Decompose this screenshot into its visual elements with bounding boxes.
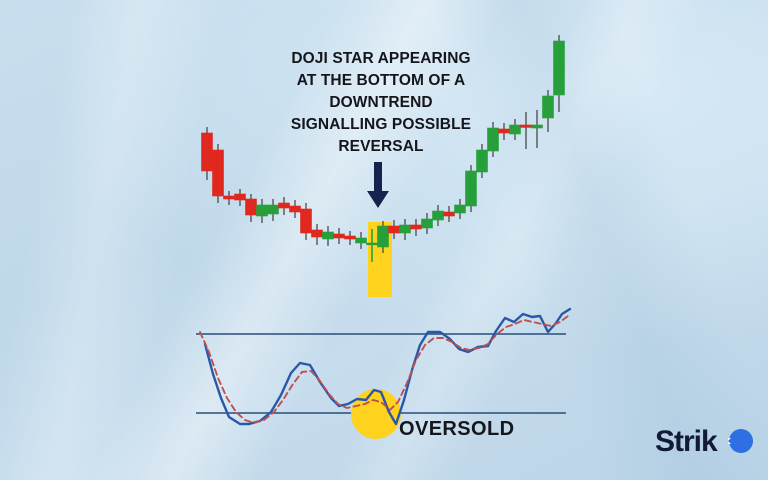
oversold-circle xyxy=(351,389,401,439)
oversold-label: OVERSOLD xyxy=(399,418,514,441)
logo-mark: Strik xyxy=(655,424,759,458)
rsi-indicator-chart xyxy=(0,0,768,480)
strike-logo: Strik xyxy=(655,424,759,458)
infographic-canvas: DOJI STAR APPEARING AT THE BOTTOM OF A D… xyxy=(0,0,768,480)
logo-e-accent xyxy=(728,429,753,453)
rsi-series-rsi xyxy=(205,309,570,424)
logo-wordmark: Strik xyxy=(655,425,718,458)
